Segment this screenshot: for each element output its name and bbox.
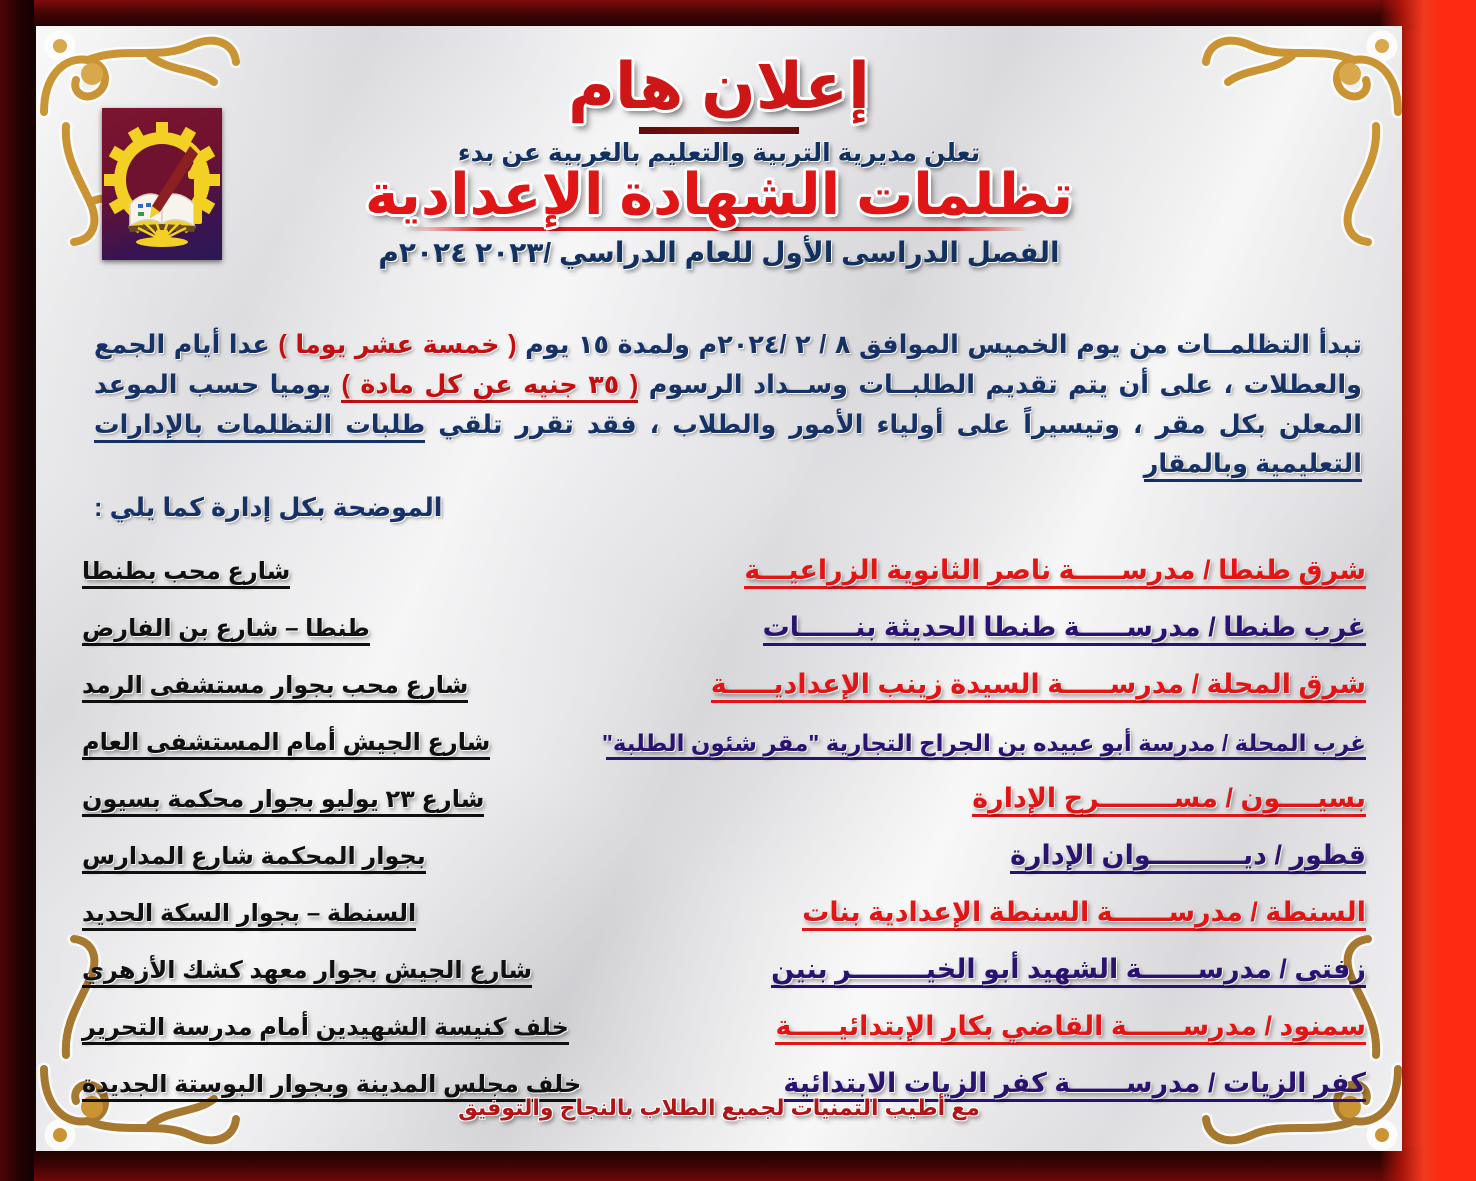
table-row: بسيــــون / مســــــــرح الإدارة شارع ٢٣… <box>82 760 1366 817</box>
admin-name: شرق طنطا / مدرســـــة ناصر الثانوية الزر… <box>744 556 1366 589</box>
admin-address: شارع الجيش بجوار معهد كشك الأزهري <box>82 958 532 988</box>
poster-header: إعلان هام تعلن مديرية التربية والتعليم ب… <box>36 32 1402 269</box>
body-paragraph-main: تبدأ التظلمــات من يوم الخميس الموافق ٨ … <box>94 326 1362 485</box>
frame-bottom-band <box>0 1147 1476 1181</box>
subject-title: تظلمات الشهادة الإعدادية <box>36 166 1402 226</box>
admin-name: سمنود / مدرســــــة القاضي بكار الإبتدائ… <box>775 1012 1366 1045</box>
admin-address: شارع الجيش أمام المستشفى العام <box>82 730 490 760</box>
body-paragraph-tail: الموضحة بكل إدارة كما يلي : <box>94 489 1362 529</box>
table-row: غرب المحلة / مدرسة أبو عبيده بن الجراح ا… <box>82 703 1366 760</box>
body-highlight-duration: ( خمسة عشر يوما ) <box>278 331 516 359</box>
table-row: سمنود / مدرســــــة القاضي بكار الإبتدائ… <box>82 988 1366 1045</box>
table-row: قطور / ديــــــــــوان الإدارة بجوار الم… <box>82 817 1366 874</box>
announcement-poster: إعلان هام تعلن مديرية التربية والتعليم ب… <box>0 0 1476 1181</box>
admin-name: بسيــــون / مســــــــرح الإدارة <box>972 784 1366 817</box>
admin-name: زفتى / مدرســــــة الشهيد أبو الخيــــــ… <box>771 955 1366 988</box>
frame-left-band <box>0 0 34 1181</box>
table-row: زفتى / مدرســــــة الشهيد أبو الخيــــــ… <box>82 931 1366 988</box>
admin-name: غرب طنطا / مدرســـــة طنطا الحديثة بنـــ… <box>763 613 1366 646</box>
table-row: شرق طنطا / مدرســـــة ناصر الثانوية الزر… <box>82 532 1366 589</box>
title-divider <box>639 127 799 134</box>
footer-wishes: مع أطيب التمنيات لجميع الطلاب بالنجاح وا… <box>36 1095 1402 1121</box>
admin-name: السنطة / مدرســــــة السنطة الإعدادية بن… <box>802 898 1366 931</box>
admin-address: بجوار المحكمة شارع المدارس <box>82 844 426 874</box>
admin-address: طنطا – شارع بن الفارض <box>82 616 370 646</box>
paper-background: إعلان هام تعلن مديرية التربية والتعليم ب… <box>36 26 1402 1151</box>
admin-address: شارع محب بطنطا <box>82 559 290 589</box>
admin-address: خلف كنيسة الشهيدين أمام مدرسة التحرير <box>82 1015 569 1045</box>
admin-name: قطور / ديــــــــــوان الإدارة <box>1010 841 1366 874</box>
body-paragraph: تبدأ التظلمــات من يوم الخميس الموافق ٨ … <box>94 326 1362 533</box>
body-highlight-fee: ( ٣٥ جنيه عن كل مادة ) <box>341 371 638 403</box>
administration-table: شرق طنطا / مدرســـــة ناصر الثانوية الزر… <box>82 532 1366 1102</box>
body-text-1: تبدأ التظلمــات من يوم الخميس الموافق ٨ … <box>517 331 1362 359</box>
subject-underline <box>409 227 1029 231</box>
table-row: السنطة / مدرســــــة السنطة الإعدادية بن… <box>82 874 1366 931</box>
page-title: إعلان هام <box>36 32 1402 119</box>
poster-content: إعلان هام تعلن مديرية التربية والتعليم ب… <box>36 26 1402 1151</box>
admin-address: شارع محب بجوار مستشفى الرمد <box>82 673 468 703</box>
admin-address: شارع ٢٣ يوليو بجوار محكمة بسيون <box>82 787 484 817</box>
term-line: الفصل الدراسى الأول للعام الدراسي /٢٠٢٣ … <box>36 236 1402 269</box>
admin-address: السنطة – بجوار السكة الحديد <box>82 901 416 931</box>
admin-name: غرب المحلة / مدرسة أبو عبيده بن الجراح ا… <box>606 731 1366 760</box>
table-row: كفر الزيات / مدرســــــة كفر الزيات الاب… <box>82 1045 1366 1102</box>
table-row: غرب طنطا / مدرســـــة طنطا الحديثة بنـــ… <box>82 589 1366 646</box>
table-row: شرق المحلة / مدرســـــة السيدة زينب الإع… <box>82 646 1366 703</box>
admin-name: شرق المحلة / مدرســـــة السيدة زينب الإع… <box>711 670 1366 703</box>
